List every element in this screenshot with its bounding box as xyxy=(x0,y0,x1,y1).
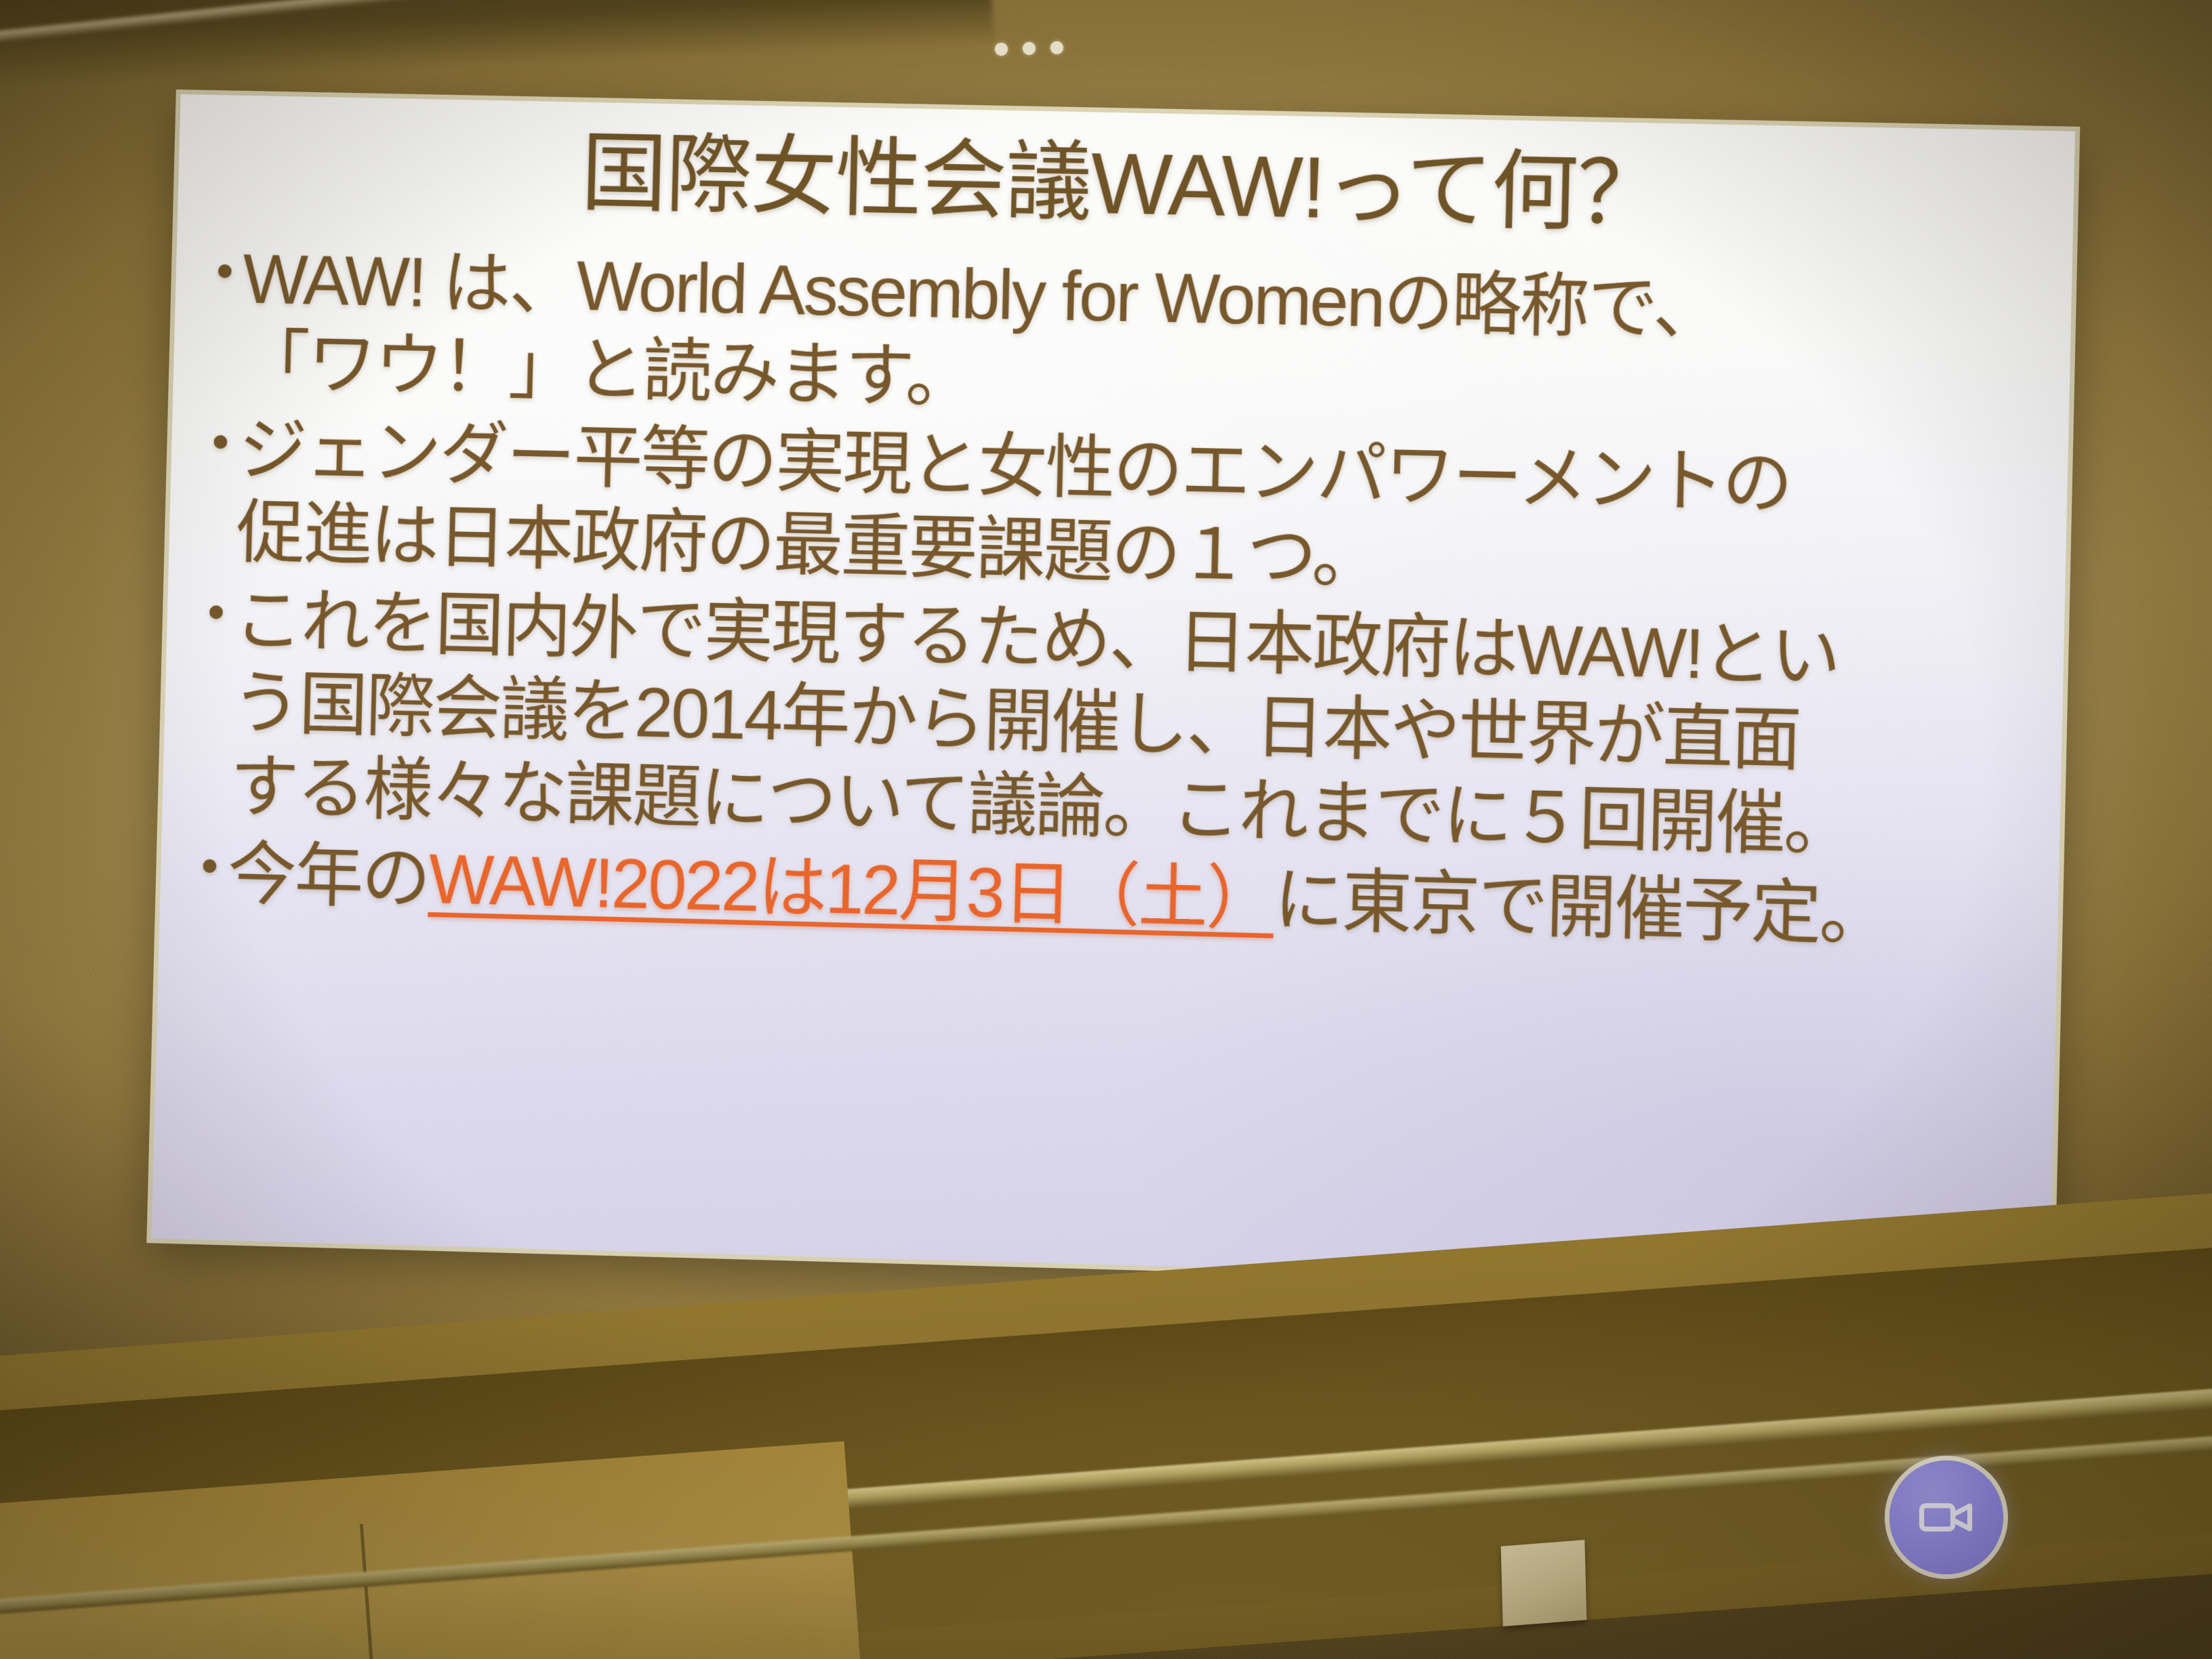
wall-dots xyxy=(995,41,1063,56)
bullet-item: • WAW! は、World Assembly for Womenの略称で、 「… xyxy=(213,237,2031,443)
slide-content: 国際女性会議WAW!って何？ • WAW! は、World Assembly f… xyxy=(160,94,2076,962)
video-camera-status-badge[interactable] xyxy=(1889,1460,2003,1574)
bullet-marker-icon: • xyxy=(216,237,244,306)
slide-bullet-list: • WAW! は、World Assembly for Womenの略称で、 「… xyxy=(196,237,2035,961)
bullet-run-plain: 今年の xyxy=(226,835,430,918)
wall-dot xyxy=(1050,41,1063,54)
slide-surface: 国際女性会議WAW!って何？ • WAW! は、World Assembly f… xyxy=(151,94,2075,1291)
bullet-body: これを国内外で実現するため、日本政府はWAW!とい う国際会議を2014年から開… xyxy=(229,578,2024,872)
projected-slide[interactable]: 国際女性会議WAW!って何？ • WAW! は、World Assembly f… xyxy=(151,94,2075,1291)
wall-dot xyxy=(995,43,1008,56)
classroom-scene: 国際女性会議WAW!って何？ • WAW! は、World Assembly f… xyxy=(0,0,2212,1659)
wall-dot xyxy=(1023,42,1036,55)
bullet-marker-icon: • xyxy=(207,577,235,647)
bullet-item: • これを国内外で実現するため、日本政府はWAW!とい う国際会議を2014年か… xyxy=(202,577,2024,872)
bullet-marker-icon: • xyxy=(200,832,228,901)
bullet-body: WAW! は、World Assembly for Womenの略称で、 「ワウ… xyxy=(240,238,2031,443)
bullet-marker-icon: • xyxy=(211,407,239,476)
video-camera-icon xyxy=(1915,1486,1978,1549)
bullet-run-plain: に東京で開催予定。 xyxy=(1273,861,1889,954)
whiteboard-eraser xyxy=(1501,1540,1587,1626)
slide-title: 国際女性会議WAW!って何？ xyxy=(213,118,2037,251)
bullet-run-highlight: WAW!2022は12月3日（土） xyxy=(428,840,1275,939)
